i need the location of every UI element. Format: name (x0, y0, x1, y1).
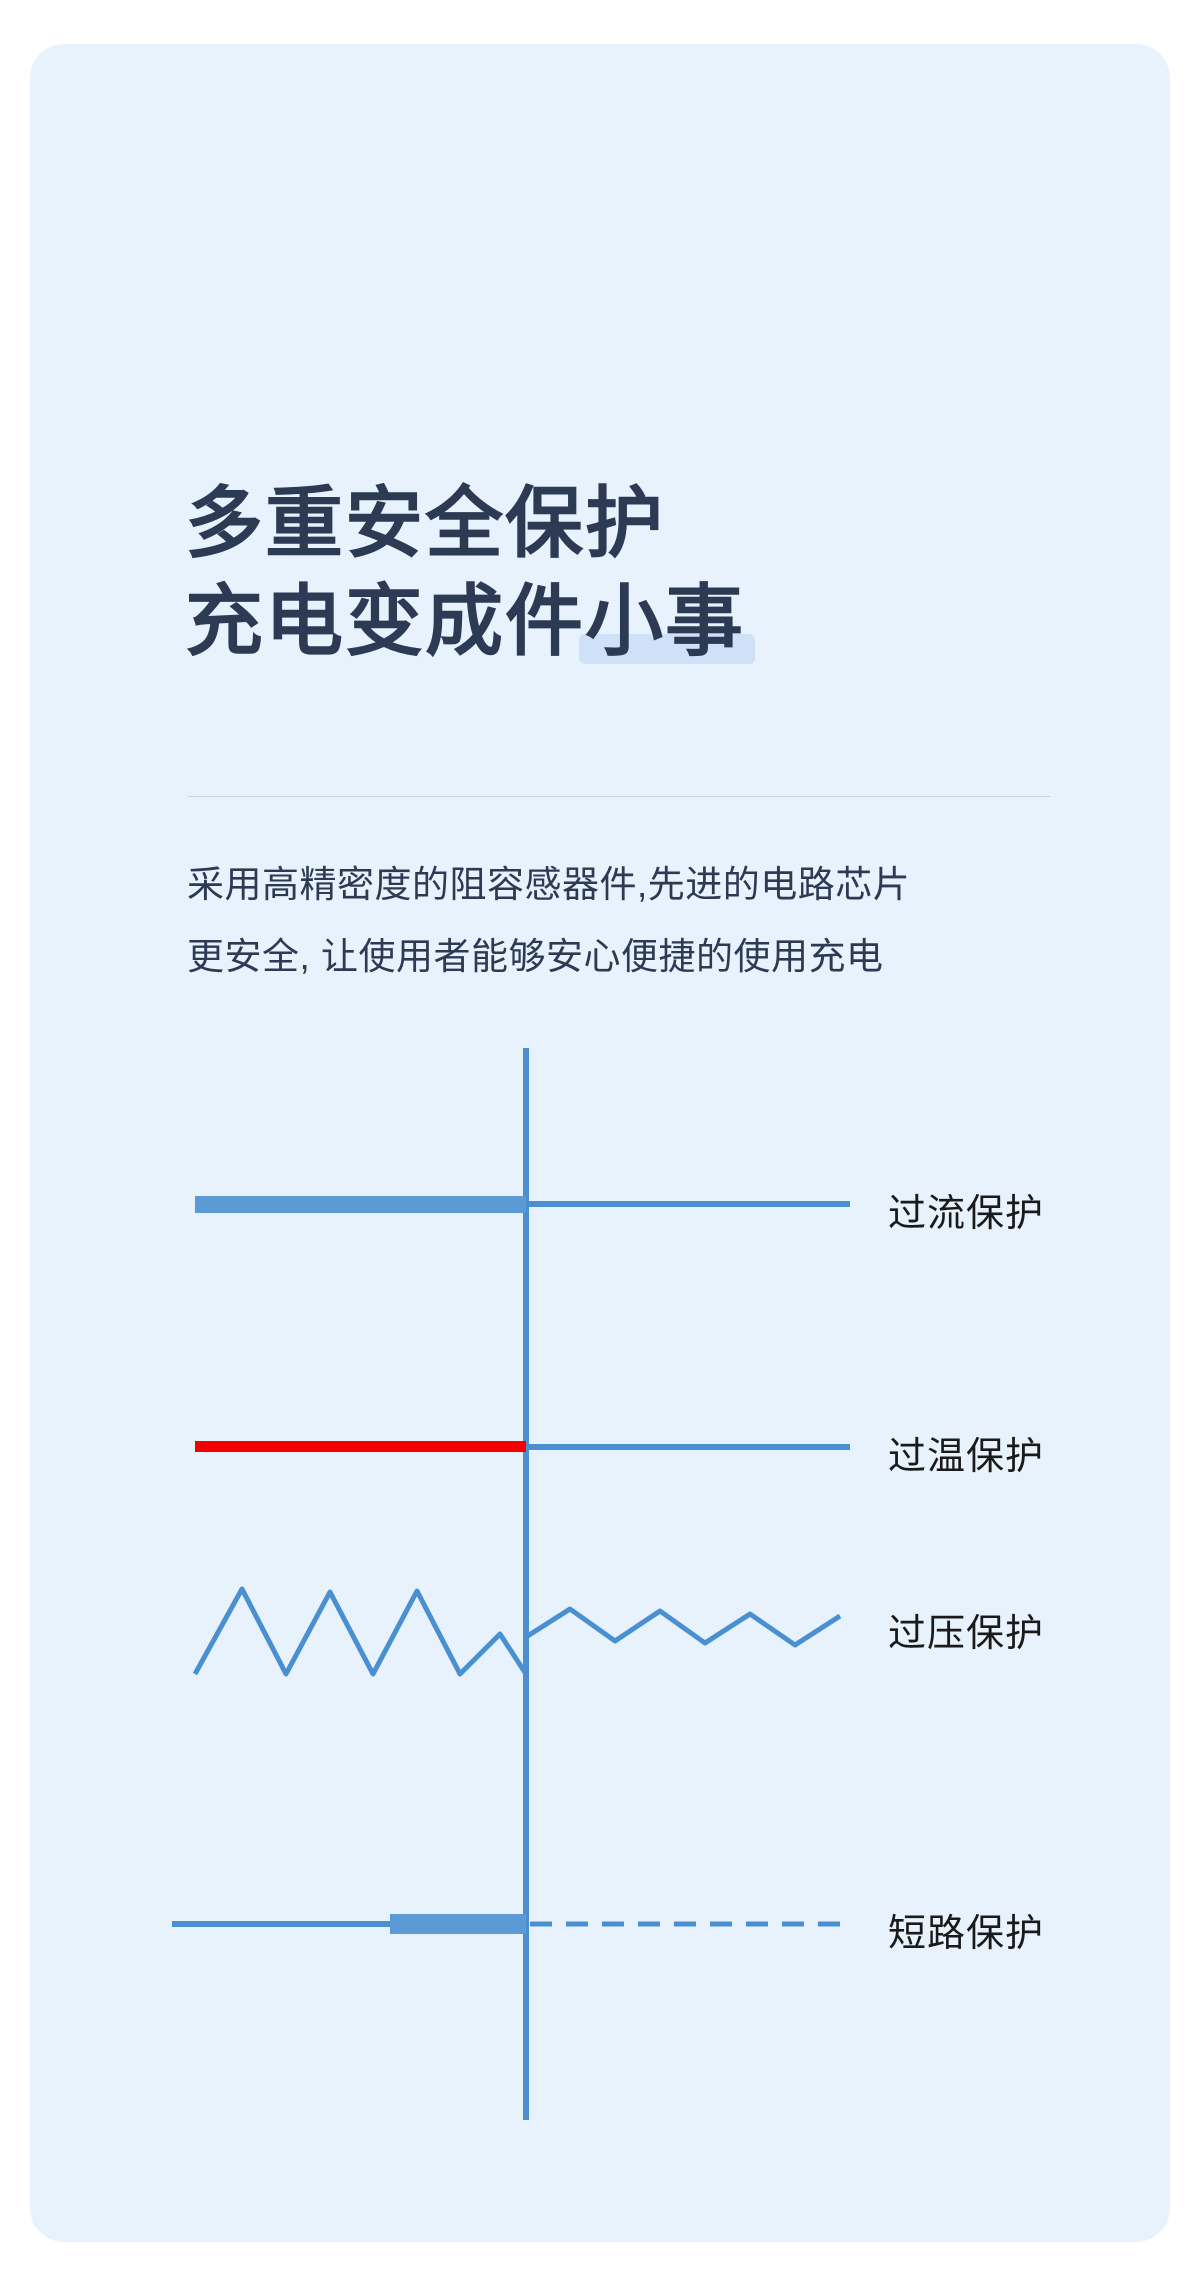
feature-card: 多重安全保护 充电变成件小事 采用高精密度的阻容感器件,先进的电路芯片 更安全,… (30, 44, 1170, 2242)
overcurrent-thick-bar (195, 1196, 526, 1213)
description-line-1: 采用高精密度的阻容感器件,先进的电路芯片 (187, 849, 1087, 921)
headline-line-2-plain: 充电变成件 (185, 577, 585, 665)
shortcircuit-thick-segment (390, 1914, 526, 1934)
overvoltage-output-waveform (526, 1609, 840, 1645)
row-shortcircuit (172, 1914, 850, 1934)
divider (188, 796, 1050, 797)
overtemperature-thick-bar (195, 1441, 526, 1452)
label-shortcircuit: 短路保护 (888, 1902, 1044, 1957)
headline-line-2-highlight: 小事 (585, 577, 745, 665)
row-overvoltage (195, 1589, 840, 1674)
headline-line-1: 多重安全保护 (185, 474, 1045, 572)
label-overvoltage: 过压保护 (888, 1602, 1044, 1657)
headline-highlight-wrap: 小事 (585, 572, 745, 670)
row-overtemperature (195, 1441, 850, 1452)
headline-line-1-text: 多重安全保护 (185, 479, 665, 567)
protection-diagram: 过流保护 过温保护 过压保护 短路保护 (30, 1024, 1170, 2144)
headline-line-2: 充电变成件小事 (185, 572, 1045, 670)
overvoltage-input-waveform (195, 1589, 526, 1674)
page-title: 多重安全保护 充电变成件小事 (185, 474, 1045, 670)
label-overtemperature: 过温保护 (888, 1425, 1044, 1480)
row-overcurrent (195, 1196, 850, 1213)
label-overcurrent: 过流保护 (888, 1182, 1044, 1237)
description-line-2: 更安全, 让使用者能够安心便捷的使用充电 (187, 921, 1087, 993)
description: 采用高精密度的阻容感器件,先进的电路芯片 更安全, 让使用者能够安心便捷的使用充… (187, 849, 1087, 993)
